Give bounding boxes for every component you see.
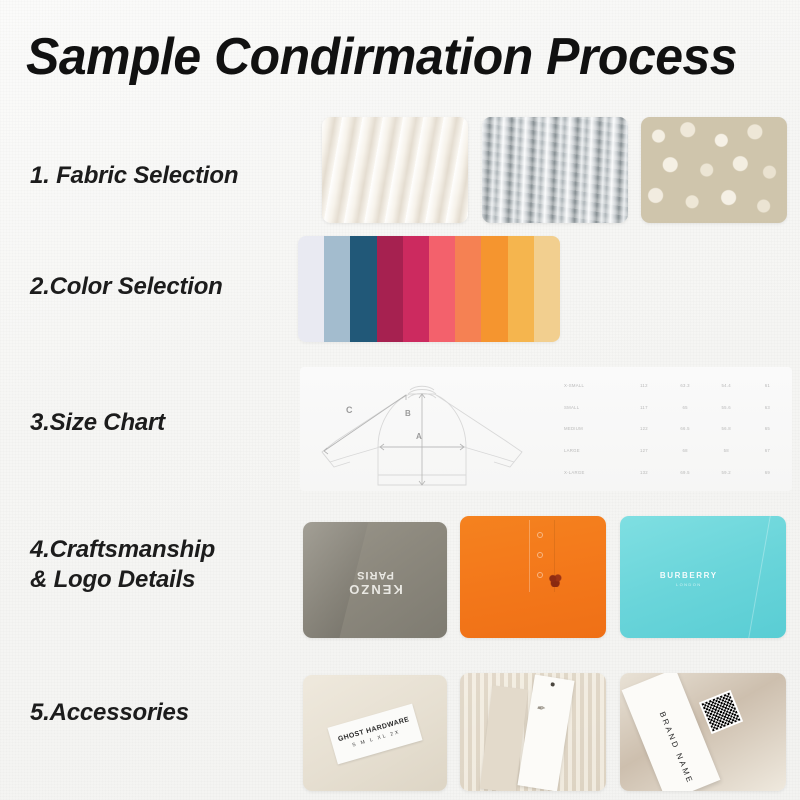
size-value: 68 (665, 448, 706, 453)
size-chart-panel: A B C X-SMALL 112 63.3 54.4 61 SMALL 117… (300, 367, 792, 491)
step-label-line-2: & Logo Details (30, 565, 300, 595)
table-row: LARGE 127 68 58 67 (560, 448, 788, 453)
printed-logo-line-2: PARIS (347, 568, 403, 582)
size-value: 58 (706, 448, 747, 453)
size-value: 63 (747, 405, 788, 410)
color-swatch[interactable] (508, 236, 534, 342)
size-name: X-LARGE (560, 470, 623, 475)
printed-logo-line-1: KENZO (347, 582, 403, 597)
wave-weave-swatch (482, 117, 628, 223)
measure-label-a: A (416, 432, 422, 441)
step-label-size-chart: 3.Size Chart (30, 408, 300, 438)
color-swatch[interactable] (481, 236, 507, 342)
color-swatch[interactable] (403, 236, 429, 342)
size-name: SMALL (560, 405, 623, 410)
boucle-swatch (641, 117, 787, 223)
size-name: LARGE (560, 448, 623, 453)
step-label-fabric-selection: 1. Fabric Selection (30, 161, 300, 191)
size-value: 127 (623, 448, 664, 453)
step-label-accessories: 5.Accessories (30, 698, 300, 728)
screen-printed-logo-text: BURBERRY LONDON (660, 571, 718, 587)
table-row: X-LARGE 132 69.5 59.2 69 (560, 470, 788, 475)
color-palette (298, 236, 560, 342)
color-swatch[interactable] (534, 236, 560, 342)
table-row: MEDIUM 122 66.5 56.8 65 (560, 426, 788, 431)
table-row: X-SMALL 112 63.3 54.4 61 (560, 383, 788, 388)
qr-brand-tag: BRAND NAME (620, 673, 786, 791)
woven-care-label: GHOST HARDWARE S M L XL 2X (303, 675, 447, 791)
size-value: 67 (747, 448, 788, 453)
size-value: 56.8 (706, 426, 747, 431)
cable-knit-swatch (322, 117, 468, 223)
size-value: 132 (623, 470, 664, 475)
size-value: 117 (623, 405, 664, 410)
embroidered-logo-detail (460, 516, 606, 638)
size-value: 63.3 (665, 383, 706, 388)
qr-code-icon (699, 690, 743, 734)
size-value: 66.5 (665, 426, 706, 431)
screen-printed-logo-detail: BURBERRY LONDON (620, 516, 786, 638)
color-swatch[interactable] (455, 236, 481, 342)
step-label-color-selection: 2.Color Selection (30, 272, 300, 302)
size-value: 69.5 (665, 470, 706, 475)
size-table: X-SMALL 112 63.3 54.4 61 SMALL 117 65 55… (558, 371, 792, 487)
size-value: 59.2 (706, 470, 747, 475)
color-swatch[interactable] (429, 236, 455, 342)
size-value: 55.6 (706, 405, 747, 410)
poster-canvas: Sample Condirmation Process 1. Fabric Se… (0, 0, 800, 800)
hang-tag-pair: ✒ (460, 673, 606, 791)
table-row: SMALL 117 65 55.6 63 (560, 405, 788, 410)
color-swatch[interactable] (298, 236, 324, 342)
embroidered-crest-icon (548, 574, 564, 587)
size-value: 65 (665, 405, 706, 410)
garment-technical-drawing: A B C (300, 367, 556, 491)
size-value: 112 (623, 383, 664, 388)
brand-hang-tag: BRAND NAME (622, 673, 721, 791)
garment-seam (748, 516, 771, 638)
printed-logo-detail: KENZO PARIS (303, 522, 447, 638)
color-swatch[interactable] (377, 236, 403, 342)
care-label-tag: GHOST HARDWARE S M L XL 2X (327, 704, 422, 765)
color-swatch[interactable] (350, 236, 376, 342)
size-value: 54.4 (706, 383, 747, 388)
color-swatch[interactable] (324, 236, 350, 342)
size-name: MEDIUM (560, 426, 623, 431)
screen-printed-logo-line-1: BURBERRY (660, 571, 718, 580)
size-value: 122 (623, 426, 664, 431)
brand-name-text: BRAND NAME (658, 711, 695, 786)
size-name: X-SMALL (560, 383, 623, 388)
measure-label-c: C (346, 405, 353, 415)
step-label-craftsmanship: 4.Craftsmanship & Logo Details (30, 535, 300, 595)
handwritten-script: ✒ (535, 701, 545, 715)
screen-printed-logo-line-2: LONDON (660, 582, 718, 587)
size-value: 61 (747, 383, 788, 388)
measure-label-b: B (405, 409, 411, 418)
page-title: Sample Condirmation Process (26, 28, 756, 86)
printed-logo-text: KENZO PARIS (347, 568, 403, 596)
step-label-line-1: 4.Craftsmanship (30, 535, 300, 565)
tag-hole-icon (550, 682, 555, 687)
size-value: 65 (747, 426, 788, 431)
size-value: 69 (747, 470, 788, 475)
